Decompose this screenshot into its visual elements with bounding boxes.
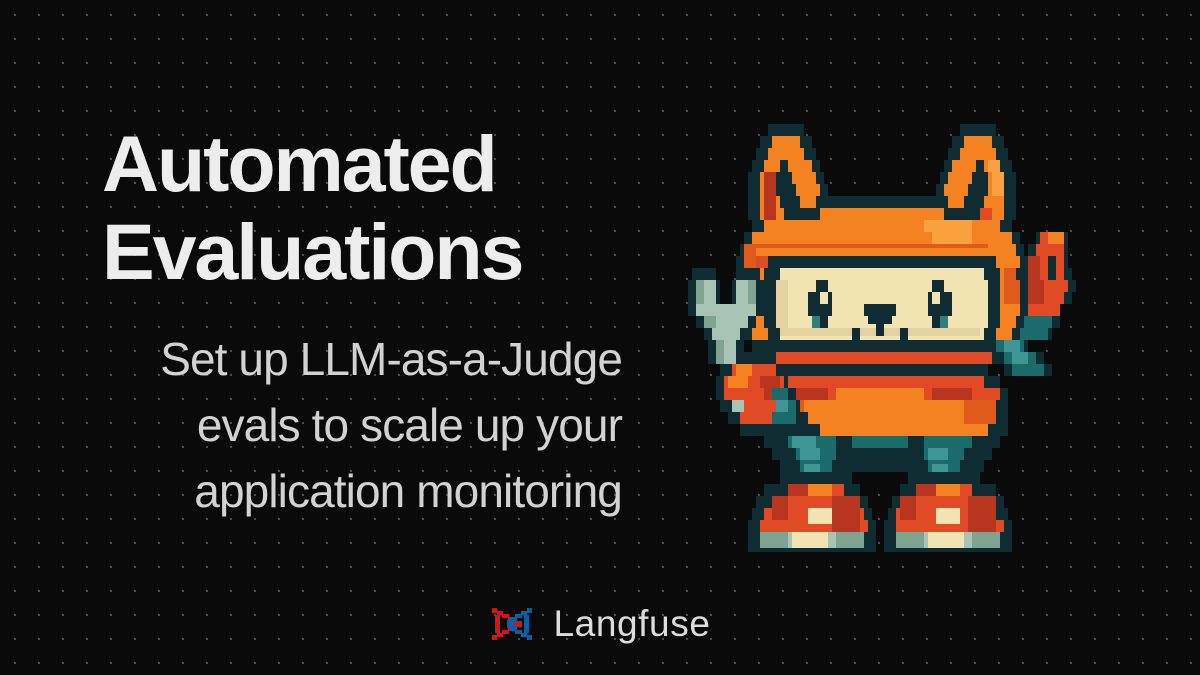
page-subtitle: Set up LLM-as-a-Judge evals to scale up … [60, 326, 622, 524]
brand-lockup: Langfuse [0, 603, 1200, 645]
pixel-cat-robot-icon [688, 124, 1076, 552]
poster-canvas: Automated Evaluations Set up LLM-as-a-Ju… [0, 0, 1200, 675]
hero-text-block: Automated Evaluations Set up LLM-as-a-Ju… [60, 120, 622, 524]
brand-wordmark: Langfuse [553, 603, 710, 645]
mascot-illustration [676, 112, 1088, 564]
logo-glyph [492, 608, 532, 640]
page-title: Automated Evaluations [60, 120, 622, 296]
langfuse-logo-icon [489, 603, 535, 645]
